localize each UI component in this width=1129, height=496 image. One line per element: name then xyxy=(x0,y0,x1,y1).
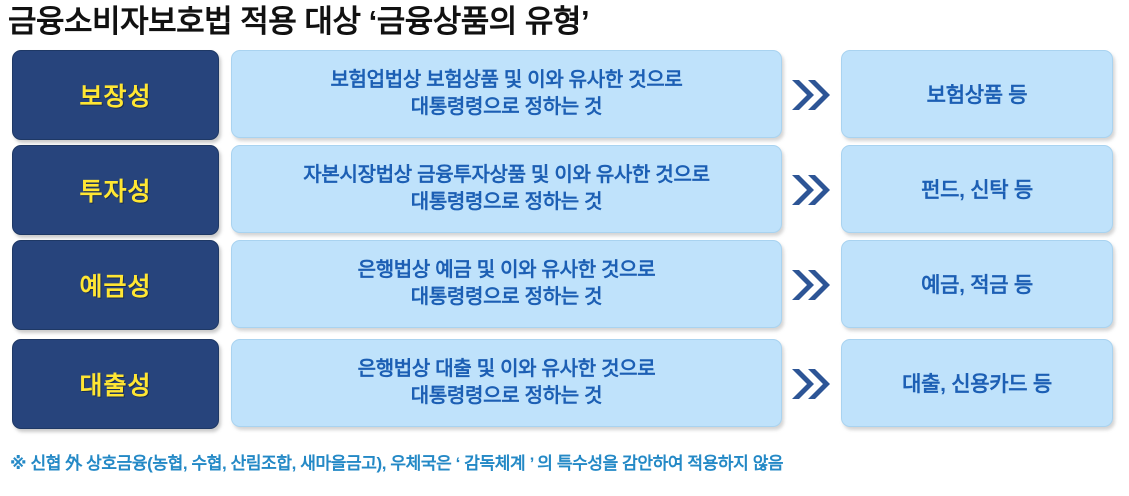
category-box-yegeumseong: 예금성 xyxy=(12,240,219,330)
description-box-yegeumseong: 은행법상 예금 및 이와 유사한 것으로 대통령령으로 정하는 것 xyxy=(231,240,782,328)
description-text: 자본시장법상 금융투자상품 및 이와 유사한 것으로 대통령령으로 정하는 것 xyxy=(303,162,709,215)
description-text: 은행법상 대출 및 이와 유사한 것으로 대통령령으로 정하는 것 xyxy=(358,356,656,409)
description-box-bojangseong: 보험업법상 보험상품 및 이와 유사한 것으로 대통령령으로 정하는 것 xyxy=(231,50,782,138)
description-line-1: 자본시장법상 금융투자상품 및 이와 유사한 것으로 xyxy=(303,164,709,186)
description-text: 보험업법상 보험상품 및 이와 유사한 것으로 대통령령으로 정하는 것 xyxy=(330,67,682,120)
result-label: 예금, 적금 등 xyxy=(921,269,1033,299)
double-chevron-right-icon xyxy=(789,171,833,209)
description-box-tujaseong: 자본시장법상 금융투자상품 및 이와 유사한 것으로 대통령령으로 정하는 것 xyxy=(231,145,782,233)
category-label: 대출성 xyxy=(79,366,151,402)
description-text: 은행법상 예금 및 이와 유사한 것으로 대통령령으로 정하는 것 xyxy=(358,257,656,310)
category-label: 예금성 xyxy=(79,267,151,303)
description-line-1: 보험업법상 보험상품 및 이와 유사한 것으로 xyxy=(330,69,682,91)
category-box-daechulseong: 대출성 xyxy=(12,339,219,429)
description-box-daechulseong: 은행법상 대출 및 이와 유사한 것으로 대통령령으로 정하는 것 xyxy=(231,339,782,427)
description-line-2: 대통령령으로 정하는 것 xyxy=(411,96,603,118)
description-line-2: 대통령령으로 정하는 것 xyxy=(411,286,603,308)
result-box-tujaseong: 펀드, 신탁 등 xyxy=(841,145,1113,233)
result-box-daechulseong: 대출, 신용카드 등 xyxy=(841,339,1113,427)
table-row: 예금성 은행법상 예금 및 이와 유사한 것으로 대통령령으로 정하는 것 예금… xyxy=(0,240,1129,330)
footnote: ※ 신협 外 상호금융(농협, 수협, 산림조합, 새마을금고), 우체국은 ‘… xyxy=(10,449,1120,474)
category-box-tujaseong: 투자성 xyxy=(12,145,219,235)
description-line-1: 은행법상 대출 및 이와 유사한 것으로 xyxy=(358,358,656,380)
product-type-table: 보장성 보험업법상 보험상품 및 이와 유사한 것으로 대통령령으로 정하는 것… xyxy=(0,48,1129,436)
category-label: 투자성 xyxy=(79,172,151,208)
double-chevron-right-icon xyxy=(789,365,833,403)
category-box-bojangseong: 보장성 xyxy=(12,50,219,140)
double-chevron-right-icon xyxy=(789,266,833,304)
result-label: 대출, 신용카드 등 xyxy=(902,368,1052,398)
page-title: 금융소비자보호법 적용 대상 ‘금융상품의 유형’ xyxy=(8,2,1108,42)
description-line-2: 대통령령으로 정하는 것 xyxy=(411,385,603,407)
result-box-bojangseong: 보험상품 등 xyxy=(841,50,1113,138)
result-label: 펀드, 신탁 등 xyxy=(921,174,1033,204)
table-row: 보장성 보험업법상 보험상품 및 이와 유사한 것으로 대통령령으로 정하는 것… xyxy=(0,50,1129,140)
description-line-1: 은행법상 예금 및 이와 유사한 것으로 xyxy=(358,259,656,281)
double-chevron-right-icon xyxy=(789,76,833,114)
table-row: 대출성 은행법상 대출 및 이와 유사한 것으로 대통령령으로 정하는 것 대출… xyxy=(0,339,1129,429)
category-label: 보장성 xyxy=(79,77,151,113)
description-line-2: 대통령령으로 정하는 것 xyxy=(411,191,603,213)
result-box-yegeumseong: 예금, 적금 등 xyxy=(841,240,1113,328)
table-row: 투자성 자본시장법상 금융투자상품 및 이와 유사한 것으로 대통령령으로 정하… xyxy=(0,145,1129,235)
diagram-page: 금융소비자보호법 적용 대상 ‘금융상품의 유형’ 보장성 보험업법상 보험상품… xyxy=(0,0,1129,496)
result-label: 보험상품 등 xyxy=(927,79,1028,109)
